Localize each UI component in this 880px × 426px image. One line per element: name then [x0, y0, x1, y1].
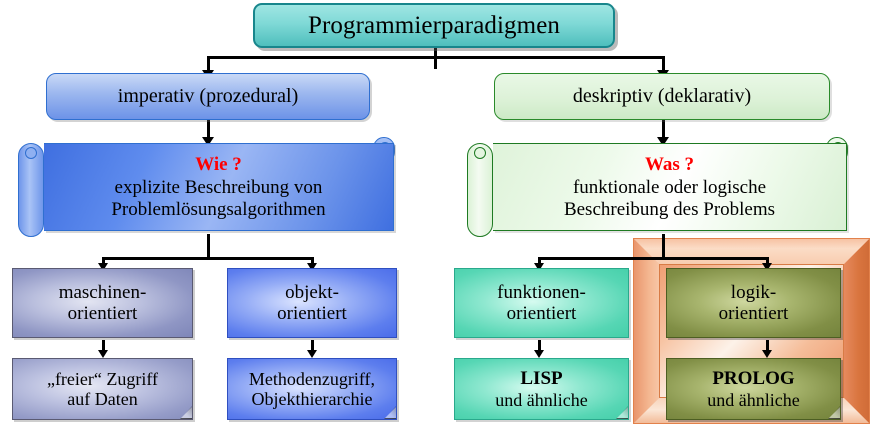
connector-wie-stem — [207, 234, 210, 260]
node-was-scroll[interactable]: Was ? funktionale oder logische Beschrei… — [467, 137, 847, 237]
folded-corner-icon — [828, 407, 840, 419]
connector-wie-bar — [103, 257, 313, 260]
node-label-line-1: funktionen- — [497, 282, 586, 303]
node-deskriptiv-label: deskriptiv (deklarativ) — [573, 85, 751, 107]
node-label-line-1: Methodenzugriff, — [249, 369, 375, 389]
connector-wie-right-drop — [311, 257, 314, 265]
scroll-hook-left — [474, 147, 486, 159]
node-label-line-2: auf Daten — [67, 389, 137, 409]
node-objekt-orientiert[interactable]: objekt- orientiert — [227, 268, 397, 338]
node-programmierparadigmen[interactable]: Programmierparadigmen — [253, 3, 615, 48]
diagram-canvas: Programmierparadigmen imperativ (prozedu… — [0, 0, 880, 426]
node-imperativ[interactable]: imperativ (prozedural) — [46, 73, 370, 120]
scroll-hook-left — [25, 147, 37, 159]
node-label-line-2: orientiert — [277, 303, 347, 324]
arrowhead-freier-zugriff — [98, 350, 108, 358]
connector-to-deskriptiv — [662, 56, 665, 73]
scroll-line-2: Problemlösungsalgorithmen — [111, 199, 325, 221]
arrowhead-methodenzugriff — [307, 350, 317, 358]
node-deskriptiv[interactable]: deskriptiv (deklarativ) — [494, 73, 830, 120]
node-label-line-2: Objekthierarchie — [252, 389, 373, 409]
node-maschinen-orientiert[interactable]: maschinen- orientiert — [12, 268, 193, 338]
node-label-line-1: LISP — [520, 368, 562, 389]
node-title-label: Programmierparadigmen — [308, 12, 560, 40]
node-methodenzugriff[interactable]: Methodenzugriff, Objekthierarchie — [227, 358, 397, 420]
scroll-curl-left — [18, 143, 44, 237]
connector-funktionen-to-lisp — [538, 340, 541, 353]
folded-corner-icon — [180, 407, 192, 419]
connector-wie-left-drop — [102, 257, 105, 265]
node-label-line-1: PROLOG — [712, 368, 794, 389]
connector-to-imperativ — [207, 56, 210, 73]
node-label-line-1: „freier“ Zugriff — [47, 369, 158, 389]
connector-title-stem — [434, 47, 437, 69]
connector-title-bar — [208, 56, 664, 59]
arrowhead-lisp — [534, 350, 544, 358]
node-freier-zugriff[interactable]: „freier“ Zugriff auf Daten — [12, 358, 193, 420]
node-label-line-1: objekt- — [285, 282, 339, 303]
scroll-question: Wie ? — [195, 154, 242, 176]
node-lisp[interactable]: LISP und ähnliche — [454, 358, 629, 420]
scroll-line-2: Beschreibung des Problems — [564, 199, 775, 221]
connector-was-left-drop — [538, 257, 541, 265]
node-label-line-2: orientiert — [68, 303, 138, 324]
node-logik-orientiert[interactable]: logik- orientiert — [666, 268, 841, 338]
node-label-line-1: logik- — [731, 282, 776, 303]
node-label-line-2: und ähnliche — [495, 390, 587, 410]
scroll-curl-left — [467, 143, 493, 237]
node-label-line-2: und ähnliche — [707, 390, 799, 410]
node-label-line-1: maschinen- — [59, 282, 147, 303]
connector-objekt-to-methoden — [311, 340, 314, 353]
scroll-question: Was ? — [645, 154, 694, 176]
node-imperativ-label: imperativ (prozedural) — [118, 85, 298, 107]
node-label-line-2: orientiert — [719, 303, 789, 324]
scroll-line-1: explizite Beschreibung von — [115, 177, 323, 199]
folded-corner-icon — [384, 407, 396, 419]
node-funktionen-orientiert[interactable]: funktionen- orientiert — [454, 268, 629, 338]
folded-corner-icon — [616, 407, 628, 419]
scroll-body: Wie ? explizite Beschreibung von Problem… — [44, 143, 394, 231]
connector-maschinen-to-zugriff — [102, 340, 105, 353]
scroll-line-1: funktionale oder logische — [573, 177, 766, 199]
scroll-body: Was ? funktionale oder logische Beschrei… — [493, 143, 847, 231]
node-wie-scroll[interactable]: Wie ? explizite Beschreibung von Problem… — [18, 137, 394, 237]
node-prolog[interactable]: PROLOG und ähnliche — [666, 358, 841, 420]
node-label-line-2: orientiert — [507, 303, 577, 324]
